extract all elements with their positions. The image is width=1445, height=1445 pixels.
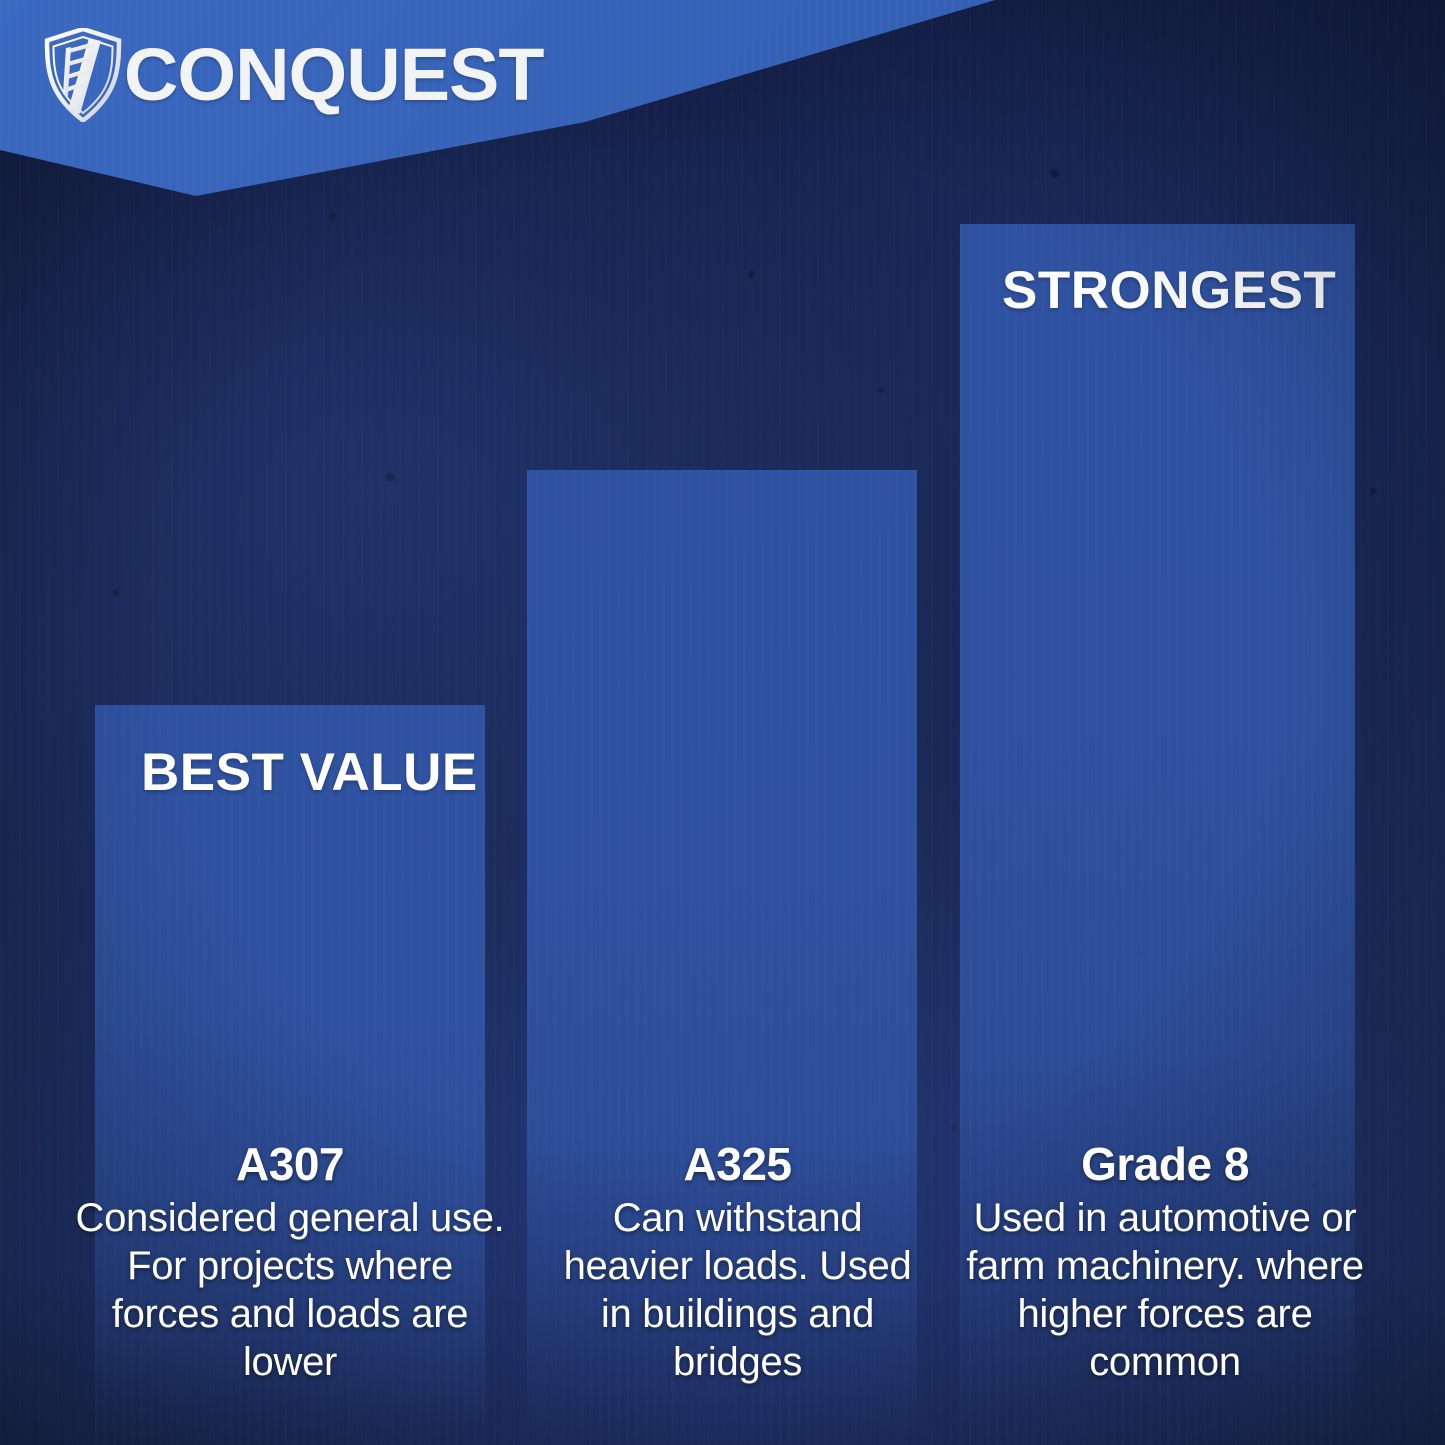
caption-grade8: Grade 8 Used in automotive or farm machi… (965, 1140, 1365, 1386)
shield-bolt-icon (44, 28, 122, 122)
brand-wordmark: CONQUEST (124, 38, 544, 112)
caption-body-a307: Considered general use. For projects whe… (75, 1194, 505, 1386)
caption-body-grade8: Used in automotive or farm machinery. wh… (965, 1194, 1365, 1386)
caption-a307: A307 Considered general use. For project… (75, 1140, 505, 1386)
caption-body-a325: Can withstand heavier loads. Used in bui… (545, 1194, 930, 1386)
caption-title-a307: A307 (75, 1140, 505, 1188)
caption-title-a325: A325 (545, 1140, 930, 1188)
brand-logo[interactable]: CONQUEST (44, 28, 539, 122)
caption-a325: A325 Can withstand heavier loads. Used i… (545, 1140, 930, 1386)
caption-title-grade8: Grade 8 (965, 1140, 1365, 1188)
infographic-canvas: BEST VALUE STRONGEST A307 Considered gen… (0, 0, 1445, 1445)
